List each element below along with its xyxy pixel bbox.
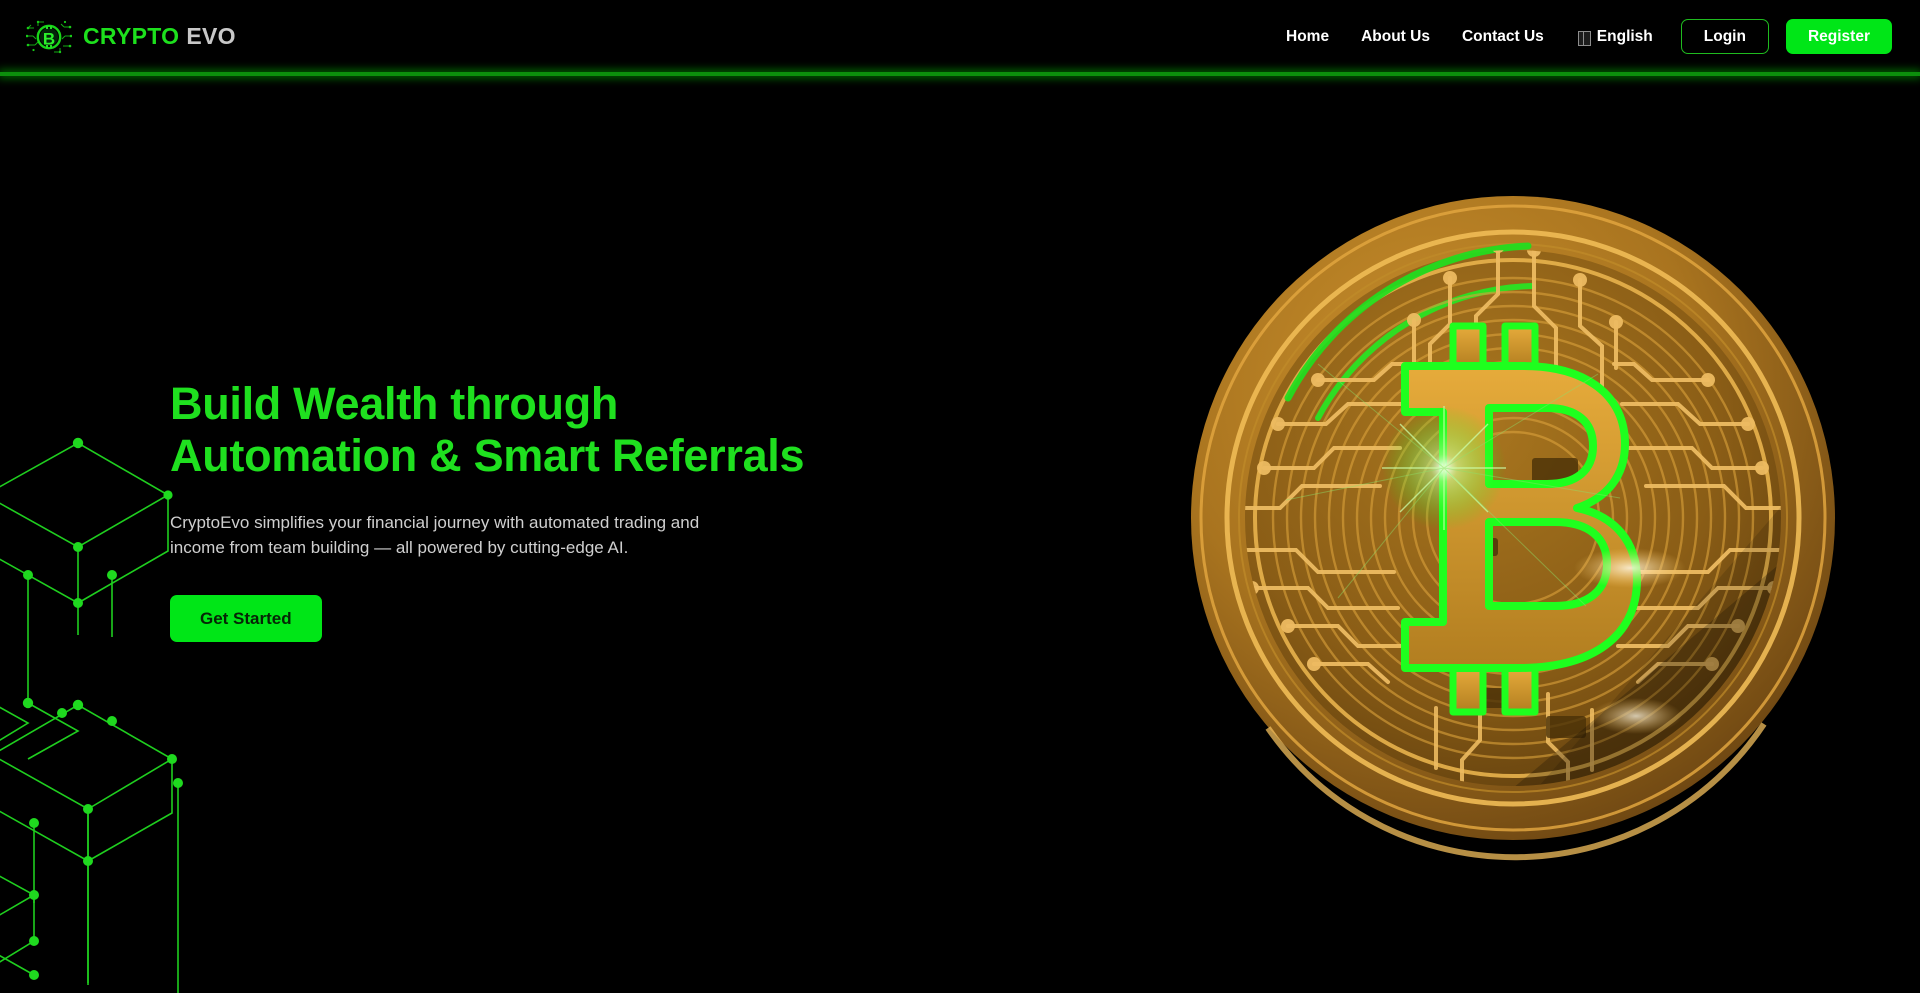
header-divider [0,72,1920,76]
brand-wordmark: CRYPTOEVO [83,25,236,48]
bitcoin-coin-illustration [1168,168,1858,868]
nav-link-about-us[interactable]: About Us [1345,29,1446,45]
brand-name-primary: CRYPTO [83,25,179,48]
language-label: English [1597,29,1653,45]
flag-icon [1578,31,1591,46]
main-navigation: Home About Us Contact Us English Login R… [1270,19,1892,55]
site-header: B CRYPTOEVO Home About Us Contact Us Eng… [0,0,1920,73]
brand-name-secondary: EVO [186,25,235,48]
hero-subtitle: CryptoEvo simplifies your financial jour… [170,511,745,560]
bitcoin-coin-circuit-icon [1168,168,1858,868]
landing-page: B CRYPTOEVO Home About Us Contact Us Eng… [0,0,1920,993]
hero-section: Build Wealth through Automation & Smart … [0,73,1920,993]
register-button[interactable]: Register [1786,19,1892,55]
hero-copy: Build Wealth through Automation & Smart … [170,378,810,642]
nav-link-contact-us[interactable]: Contact Us [1446,29,1560,45]
brand-logo[interactable]: B CRYPTOEVO [26,16,236,58]
nav-link-home[interactable]: Home [1270,29,1345,45]
get-started-button[interactable]: Get Started [170,595,322,642]
bitcoin-circuit-icon: B [26,16,72,58]
login-button[interactable]: Login [1681,19,1769,55]
page-title: Build Wealth through Automation & Smart … [170,378,810,482]
svg-text:B: B [43,29,55,48]
language-selector[interactable]: English [1560,29,1669,45]
